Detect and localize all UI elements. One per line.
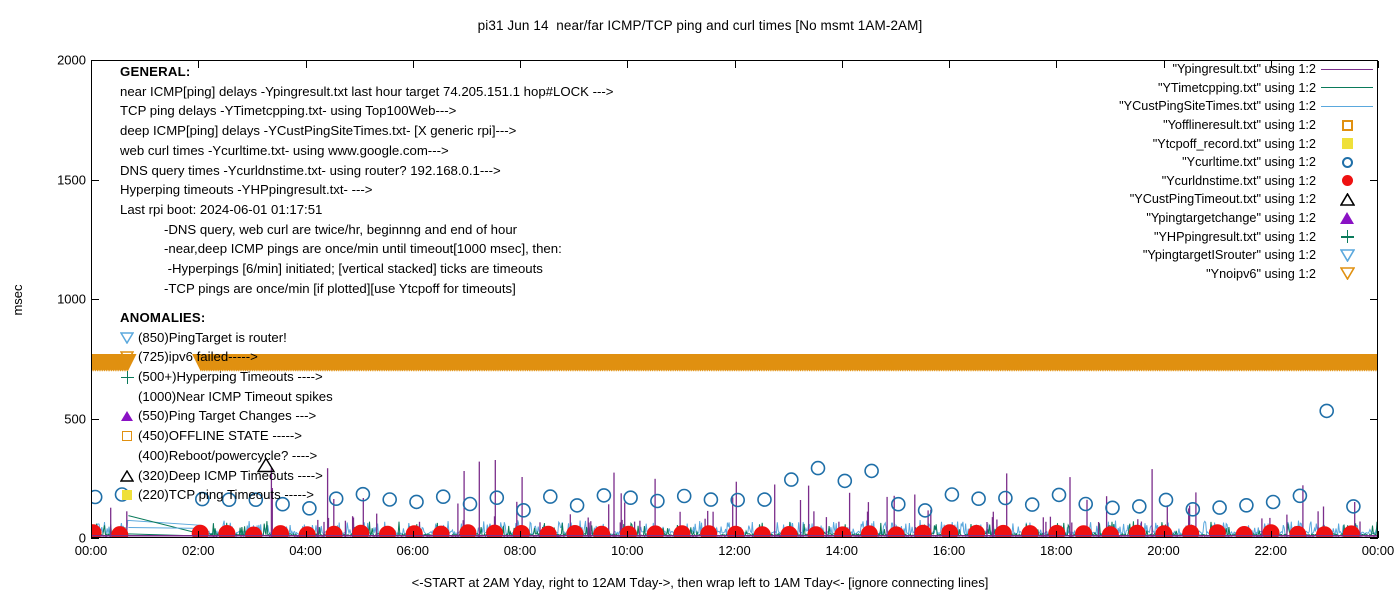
triangle-down-open-icon (120, 331, 134, 345)
legend-item-label: "Ycurldnstime.txt" using 1:2 (1162, 174, 1316, 188)
x-tick-mark (1056, 531, 1057, 538)
x-tick-mark (520, 531, 521, 538)
x-tick-label: 02:00 (182, 543, 215, 558)
anomaly-label: (850)PingTarget is router! (138, 330, 287, 345)
anomalies-header: ANOMALIES: (120, 308, 333, 328)
x-tick-mark (306, 531, 307, 538)
general-line: DNS query times -Ycurldnstime.txt- using… (120, 161, 613, 181)
legend: "Ypingresult.txt" using 1:2"YTimetcpping… (1058, 60, 1378, 283)
legend-item[interactable]: "Ytcpoff_record.txt" using 1:2 (1058, 134, 1378, 153)
y-tick-mark (1370, 60, 1378, 61)
square-open-icon (120, 429, 134, 443)
circle-open-icon (1342, 157, 1353, 168)
triangle-filled-icon (120, 409, 134, 423)
x-tick-label: 10:00 (611, 543, 644, 558)
circle-filled-icon (1342, 175, 1353, 186)
y-tick-mark (1370, 419, 1378, 420)
general-header: GENERAL: (120, 62, 613, 82)
general-line: Hyperping timeouts -YHPpingresult.txt- -… (120, 180, 613, 200)
square-filled-icon (1342, 138, 1353, 149)
anomaly-item: (1000)Near ICMP Timeout spikes (120, 387, 333, 407)
x-tick-mark (627, 61, 628, 68)
anomaly-label: (550)Ping Target Changes ---> (138, 408, 316, 423)
triangle-open-icon (1340, 193, 1355, 206)
legend-item-label: "Yofflineresult.txt" using 1:2 (1163, 118, 1316, 132)
legend-item-label: "Ytcpoff_record.txt" using 1:2 (1153, 137, 1316, 151)
x-tick-mark (1378, 61, 1379, 68)
no-marker (120, 390, 134, 404)
anomaly-item: (550)Ping Target Changes ---> (120, 406, 333, 426)
x-tick-label: 20:00 (1147, 543, 1180, 558)
x-tick-mark (842, 531, 843, 538)
x-tick-mark (306, 61, 307, 68)
x-tick-mark (1378, 531, 1379, 538)
x-tick-label: 22:00 (1254, 543, 1287, 558)
anomaly-label: (450)OFFLINE STATE -----> (138, 428, 302, 443)
legend-line-swatch (1321, 87, 1373, 88)
x-tick-mark (198, 531, 199, 538)
anomaly-item: (400)Reboot/powercycle? ----> (120, 446, 333, 466)
x-tick-mark (735, 61, 736, 68)
anomaly-label: (400)Reboot/powercycle? ----> (138, 448, 317, 463)
general-line: deep ICMP[ping] delays -YCustPingSiteTim… (120, 121, 613, 141)
x-tick-mark (1056, 61, 1057, 68)
legend-item-label: "Ypingtargetchange" using 1:2 (1146, 211, 1316, 225)
x-tick-label: 18:00 (1040, 543, 1073, 558)
legend-item-label: "Ypingresult.txt" using 1:2 (1173, 62, 1316, 76)
y-tick-mark (91, 538, 99, 539)
x-tick-label: 14:00 (825, 543, 858, 558)
legend-item-label: "YTimetcpping.txt" using 1:2 (1158, 81, 1316, 95)
y-tick-label: 2000 (57, 53, 86, 68)
general-line: Last rpi boot: 2024-06-01 01:17:51 (120, 200, 613, 220)
legend-item-label: "YCustPingSiteTimes.txt" using 1:2 (1119, 99, 1316, 113)
y-tick-label: 1500 (57, 172, 86, 187)
anomaly-item: (320)Deep ICMP Timeouts ----> (120, 466, 333, 486)
triangle-down-open-icon (1340, 267, 1355, 280)
anomaly-item: (725)ipv6 failed-----> (120, 347, 333, 367)
legend-item[interactable]: "Yofflineresult.txt" using 1:2 (1058, 116, 1378, 135)
anomalies-annotation-block: ANOMALIES: (850)PingTarget is router!(72… (120, 308, 333, 505)
legend-item[interactable]: "Ypingtargetchange" using 1:2 (1058, 209, 1378, 228)
legend-item-label: "Ynoipv6" using 1:2 (1206, 267, 1316, 281)
anomaly-label: (220)TCP ping Timeouts -----> (138, 487, 314, 502)
square-open-icon (122, 431, 132, 441)
y-axis-label: msec (10, 284, 25, 315)
general-line: -TCP pings are once/min [if plotted][use… (120, 279, 613, 299)
y-tick-label: 500 (64, 411, 86, 426)
x-tick-mark (1271, 531, 1272, 538)
y-tick-mark (1370, 180, 1378, 181)
x-tick-mark (1164, 61, 1165, 68)
triangle-down-open-icon (120, 350, 134, 364)
x-tick-mark (413, 531, 414, 538)
y-tick-mark (91, 299, 99, 300)
x-tick-mark (1164, 531, 1165, 538)
anomaly-label: (1000)Near ICMP Timeout spikes (138, 389, 333, 404)
gap-connecting-line-2 (128, 528, 200, 529)
x-tick-mark (949, 61, 950, 68)
legend-item[interactable]: "Ynoipv6" using 1:2 (1058, 265, 1378, 284)
legend-item[interactable]: "Ycurldnstime.txt" using 1:2 (1058, 172, 1378, 191)
legend-line-swatch (1321, 106, 1373, 107)
general-line: near ICMP[ping] delays -Ypingresult.txt … (120, 82, 613, 102)
y-tick-mark (91, 419, 99, 420)
x-tick-mark (842, 61, 843, 68)
square-filled-icon (120, 488, 134, 502)
x-tick-mark (91, 531, 92, 538)
legend-item-label: "YHPpingresult.txt" using 1:2 (1154, 230, 1316, 244)
legend-item[interactable]: "YCustPingTimeout.txt" using 1:2 (1058, 190, 1378, 209)
x-tick-mark (949, 531, 950, 538)
anomaly-item: (850)PingTarget is router! (120, 328, 333, 348)
x-tick-label: 06:00 (396, 543, 429, 558)
y-tick-mark (1370, 299, 1378, 300)
x-tick-mark (91, 61, 92, 68)
x-tick-mark (1271, 61, 1272, 68)
x-tick-label: 08:00 (504, 543, 537, 558)
x-tick-label: 04:00 (289, 543, 322, 558)
general-line: TCP ping delays -YTimetcpping.txt- using… (120, 101, 613, 121)
legend-item[interactable]: "YTimetcpping.txt" using 1:2 (1058, 79, 1378, 98)
general-line: -near,deep ICMP pings are once/min until… (120, 239, 613, 259)
legend-item[interactable]: "Ycurltime.txt" using 1:2 (1058, 153, 1378, 172)
y-tick-mark (1370, 538, 1378, 539)
anomaly-item: (220)TCP ping Timeouts -----> (120, 485, 333, 505)
anomaly-item: (450)OFFLINE STATE -----> (120, 426, 333, 446)
legend-item[interactable]: "Ypingresult.txt" using 1:2 (1058, 60, 1378, 79)
no-marker (120, 449, 134, 463)
triangle-open-icon (120, 469, 134, 483)
x-tick-label: 16:00 (933, 543, 966, 558)
x-tick-mark (198, 61, 199, 68)
legend-item-label: "YpingtargetISrouter" using 1:2 (1143, 248, 1316, 262)
general-line: -Hyperpings [6/min] initiated; [vertical… (120, 259, 613, 279)
anomaly-label: (725)ipv6 failed-----> (138, 349, 258, 364)
general-line: -DNS query, web curl are twice/hr, begin… (120, 220, 613, 240)
general-annotation-block: GENERAL: near ICMP[ping] delays -Ypingre… (120, 62, 613, 298)
plus-icon (1341, 230, 1354, 243)
legend-item[interactable]: "YCustPingSiteTimes.txt" using 1:2 (1058, 97, 1378, 116)
y-tick-mark (91, 60, 99, 61)
x-tick-mark (520, 61, 521, 68)
plus-icon (121, 371, 134, 384)
x-tick-mark (413, 61, 414, 68)
x-axis-label: <-START at 2AM Yday, right to 12AM Tday-… (0, 575, 1400, 590)
y-tick-label: 1000 (57, 292, 86, 307)
anomaly-label: (320)Deep ICMP Timeouts ----> (138, 468, 323, 483)
legend-item-label: "Ycurltime.txt" using 1:2 (1182, 155, 1316, 169)
triangle-down-open-icon (1340, 249, 1355, 262)
chart-title: pi31 Jun 14 near/far ICMP/TCP ping and c… (0, 18, 1400, 33)
legend-item[interactable]: "YpingtargetISrouter" using 1:2 (1058, 246, 1378, 265)
x-tick-mark (735, 531, 736, 538)
triangle-filled-icon (1340, 212, 1354, 224)
legend-item[interactable]: "YHPpingresult.txt" using 1:2 (1058, 227, 1378, 246)
anomaly-item: (500+)Hyperping Timeouts ----> (120, 367, 333, 387)
x-tick-label: 00:00 (1362, 543, 1395, 558)
x-tick-label: 12:00 (718, 543, 751, 558)
x-tick-label: 00:00 (75, 543, 108, 558)
y-tick-mark (91, 180, 99, 181)
plus-icon (120, 370, 134, 384)
square-filled-icon (122, 490, 132, 500)
legend-line-swatch (1321, 69, 1373, 70)
legend-item-label: "YCustPingTimeout.txt" using 1:2 (1130, 192, 1316, 206)
square-open-icon (1342, 120, 1353, 131)
x-tick-mark (627, 531, 628, 538)
anomaly-label: (500+)Hyperping Timeouts ----> (138, 369, 323, 384)
general-line: web curl times -Ycurltime.txt- using www… (120, 141, 613, 161)
